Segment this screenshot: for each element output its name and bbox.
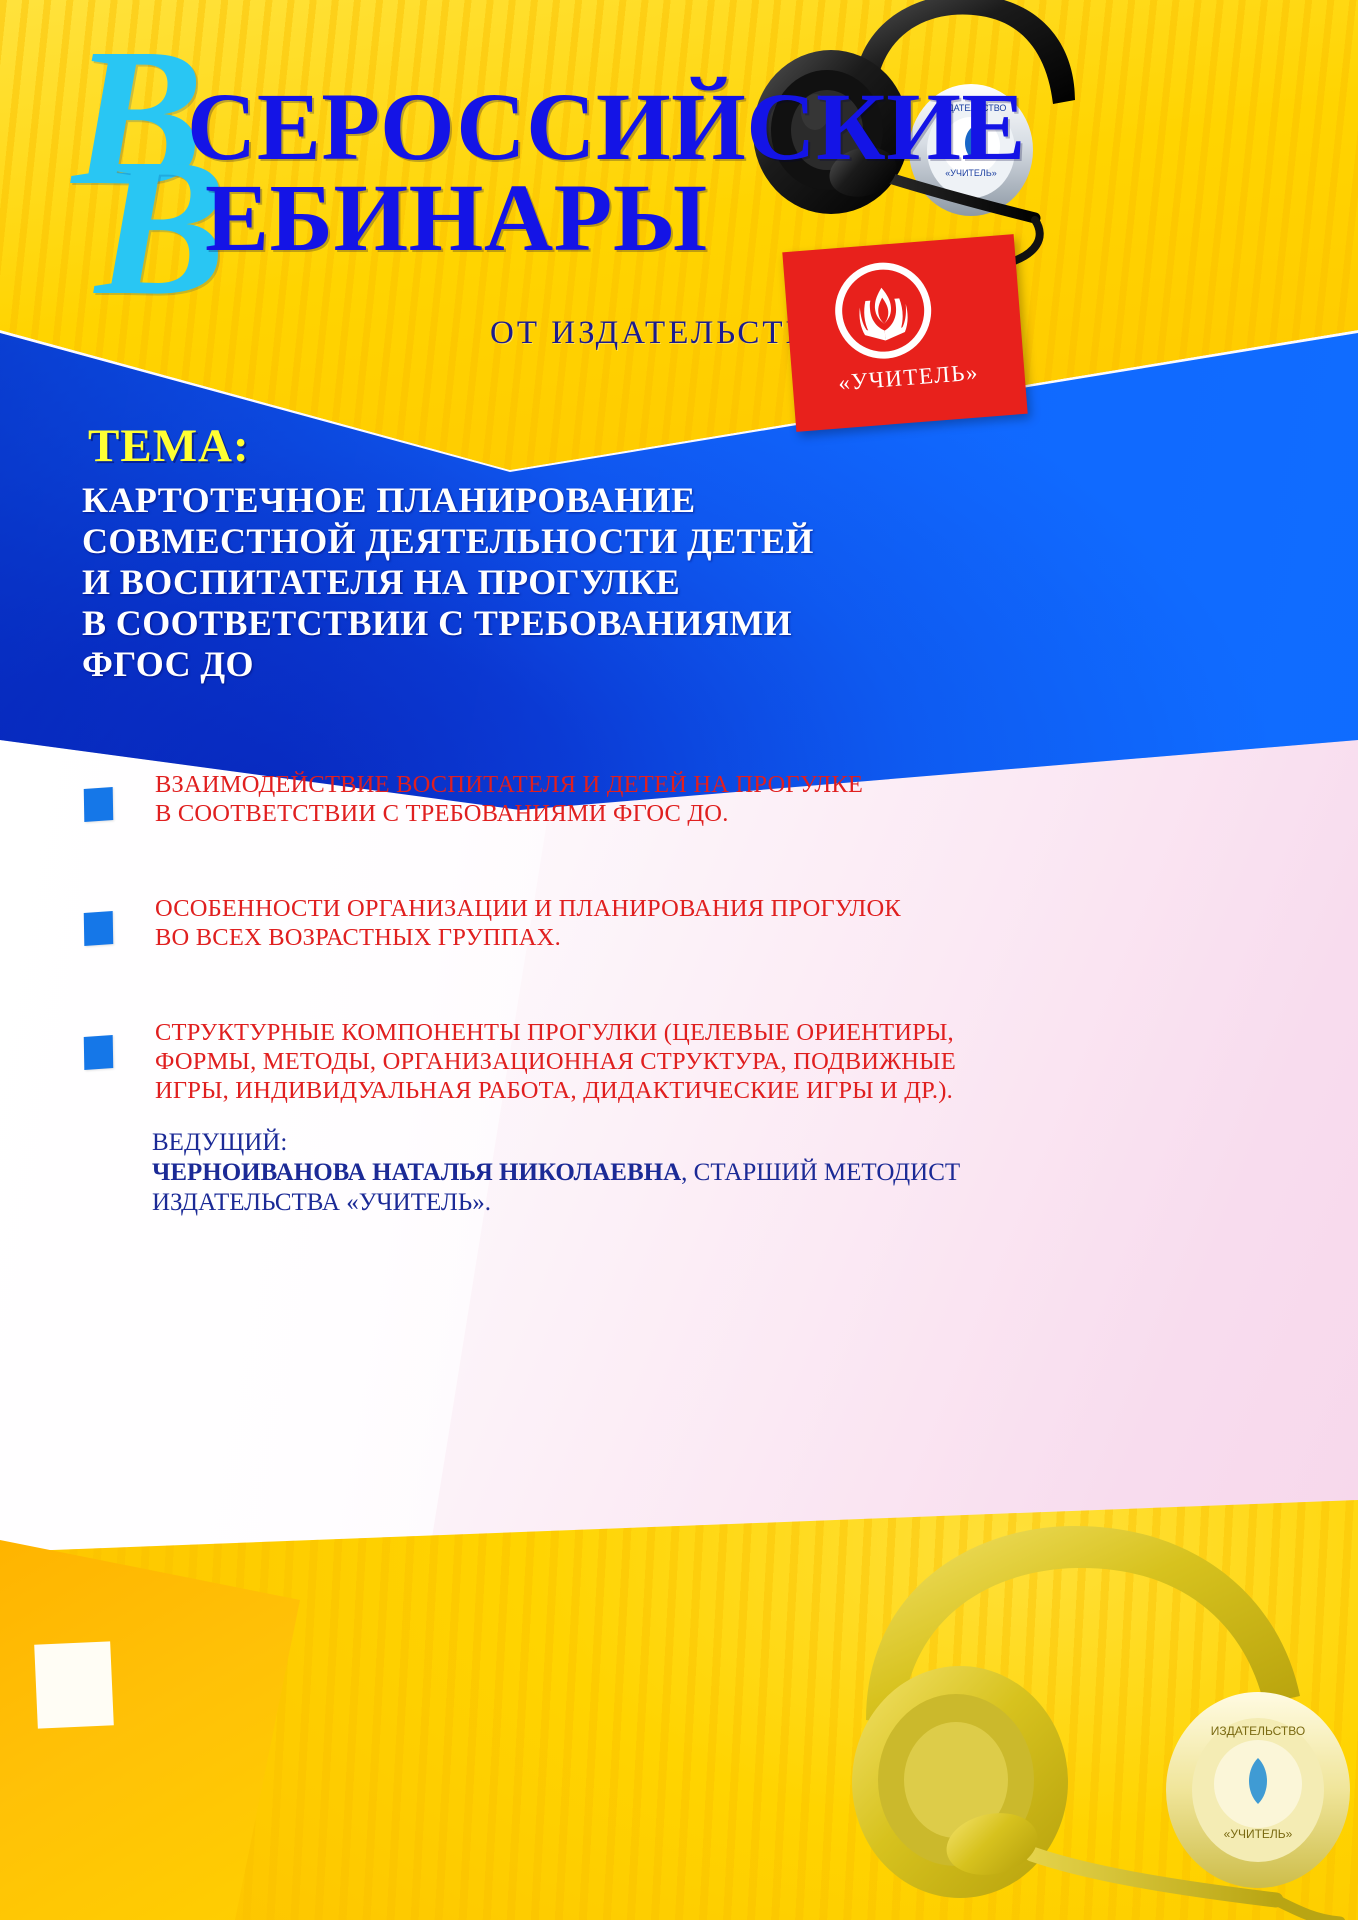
list-item-text: СТРУКТУРНЫЕ КОМПОНЕНТЫ ПРОГУЛКИ (ЦЕЛЕВЫЕ… [155, 1018, 956, 1105]
theme-title-line: КАРТОТЕЧНОЕ ПЛАНИРОВАНИЕ [82, 480, 982, 521]
publisher-logo-card: «УЧИТЕЛЬ» [782, 234, 1027, 432]
list-item: ВЗАИМОДЕЙСТВИЕ ВОСПИТАТЕЛЯ И ДЕТЕЙ НА ПР… [84, 770, 984, 828]
presenter-name: ЧЕРНОИВАНОВА НАТАЛЬЯ НИКОЛАЕВНА [152, 1159, 681, 1186]
headset-badge-line2-bottom: «УЧИТЕЛЬ» [1224, 1827, 1293, 1841]
list-item-line: ВЗАИМОДЕЙСТВИЕ ВОСПИТАТЕЛЯ И ДЕТЕЙ НА ПР… [155, 770, 863, 799]
brand-word-1: СЕРОССИЙСКИЕ [187, 79, 1026, 175]
theme-label: ТЕМА: [88, 419, 250, 473]
list-item-text: ВЗАИМОДЕЙСТВИЕ ВОСПИТАТЕЛЯ И ДЕТЕЙ НА ПР… [155, 770, 863, 828]
bullet-square-icon [84, 787, 114, 822]
brand-word-2: ЕБИНАРЫ [205, 170, 708, 266]
list-item-line: ИГРЫ, ИНДИВИДУАЛЬНАЯ РАБОТА, ДИДАКТИЧЕСК… [155, 1076, 956, 1105]
headset-badge-line1-bottom: ИЗДАТЕЛЬСТВО [1211, 1724, 1305, 1738]
brand-wordmark: В СЕРОССИЙСКИЕ В ЕБИНАРЫ [0, 0, 1358, 330]
presenter-organization: ИЗДАТЕЛЬСТВА «УЧИТЕЛЬ». [152, 1188, 1072, 1218]
theme-title: КАРТОТЕЧНОЕ ПЛАНИРОВАНИЕ СОВМЕСТНОЙ ДЕЯТ… [82, 480, 982, 685]
theme-title-line: И ВОСПИТАТЕЛЯ НА ПРОГУЛКЕ [82, 562, 982, 603]
presenter-block: ВЕДУЩИЙ: ЧЕРНОИВАНОВА НАТАЛЬЯ НИКОЛАЕВНА… [152, 1128, 1072, 1218]
publisher-logo-label: «УЧИТЕЛЬ» [792, 356, 1025, 400]
theme-title-line: В СООТВЕТСТВИИ С ТРЕБОВАНИЯМИ [82, 603, 982, 644]
presenter-role: , СТАРШИЙ МЕТОДИСТ [681, 1159, 960, 1186]
headset-illustration-bottom: ИЗДАТЕЛЬСТВО «УЧИТЕЛЬ» [640, 1482, 1358, 1920]
presenter-name-row: ЧЕРНОИВАНОВА НАТАЛЬЯ НИКОЛАЕВНА, СТАРШИЙ… [152, 1158, 1072, 1188]
bottom-white-square-accent [34, 1641, 114, 1728]
list-item: ОСОБЕННОСТИ ОРГАНИЗАЦИИ И ПЛАНИРОВАНИЯ П… [84, 894, 984, 952]
from-publisher-label: ОТ ИЗДАТЕЛЬСТВА [490, 315, 835, 352]
list-item-line: В СООТВЕТСТВИИ С ТРЕБОВАНИЯМИ ФГОС ДО. [155, 799, 863, 828]
bullet-square-icon [84, 911, 114, 946]
theme-title-line: СОВМЕСТНОЙ ДЕЯТЕЛЬНОСТИ ДЕТЕЙ [82, 521, 982, 562]
list-item: СТРУКТУРНЫЕ КОМПОНЕНТЫ ПРОГУЛКИ (ЦЕЛЕВЫЕ… [84, 1018, 984, 1105]
presenter-label: ВЕДУЩИЙ: [152, 1128, 1072, 1158]
topics-list: ВЗАИМОДЕЙСТВИЕ ВОСПИТАТЕЛЯ И ДЕТЕЙ НА ПР… [84, 770, 984, 1171]
list-item-line: ВО ВСЕХ ВОЗРАСТНЫХ ГРУППАХ. [155, 923, 901, 952]
tulip-book-icon [843, 271, 923, 351]
list-item-line: СТРУКТУРНЫЕ КОМПОНЕНТЫ ПРОГУЛКИ (ЦЕЛЕВЫЕ… [155, 1018, 956, 1047]
list-item-line: ФОРМЫ, МЕТОДЫ, ОРГАНИЗАЦИОННАЯ СТРУКТУРА… [155, 1047, 956, 1076]
theme-title-line: ФГОС ДО [82, 644, 982, 685]
list-item-line: ОСОБЕННОСТИ ОРГАНИЗАЦИИ И ПЛАНИРОВАНИЯ П… [155, 894, 901, 923]
webinar-poster: ИЗДАТЕЛЬСТВО «УЧИТЕЛЬ» В СЕРОССИЙСКИЕ В … [0, 0, 1358, 1920]
list-item-text: ОСОБЕННОСТИ ОРГАНИЗАЦИИ И ПЛАНИРОВАНИЯ П… [155, 894, 901, 952]
bullet-square-icon [84, 1035, 114, 1070]
publisher-emblem-icon [832, 259, 935, 362]
